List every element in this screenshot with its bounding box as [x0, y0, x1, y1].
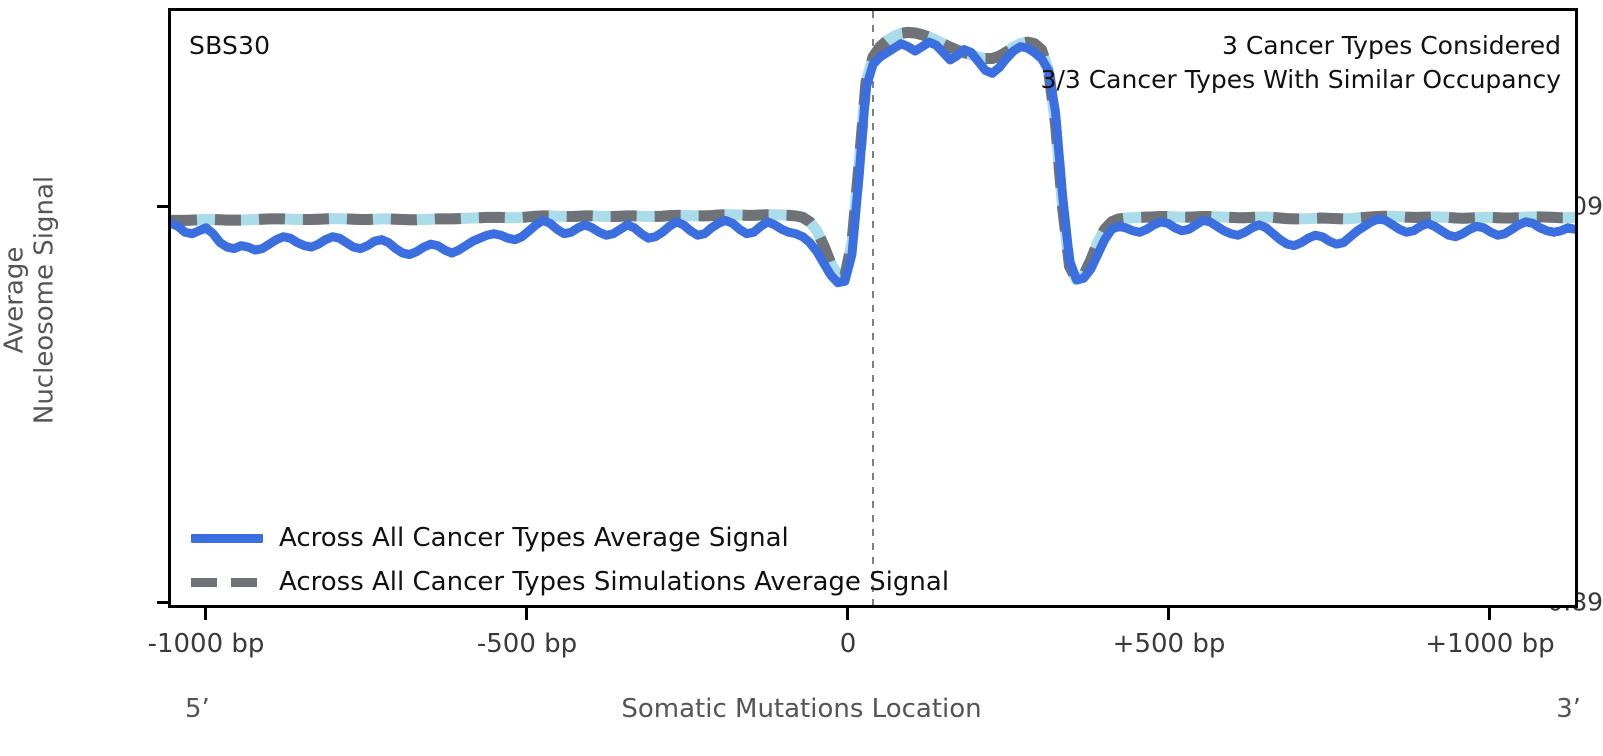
- legend-swatch-simulation: [191, 570, 263, 594]
- x-tick-label-zero: 0: [840, 629, 857, 659]
- x-tick-mark-minus1000: [204, 608, 207, 620]
- legend-item-simulation: Across All Cancer Types Simulations Aver…: [191, 560, 949, 604]
- y-axis-label-line1: Average: [0, 247, 29, 354]
- three-prime-label: 3’: [1556, 694, 1581, 724]
- x-tick-label-minus500: -500 bp: [477, 629, 577, 659]
- nucleosome-occupancy-figure: Average Nucleosome Signal 1.09 0.89 SBS3…: [0, 0, 1603, 756]
- x-tick-mark-plus1000: [1488, 608, 1491, 620]
- cancer-type-notes: 3 Cancer Types Considered 3/3 Cancer Typ…: [1041, 29, 1561, 96]
- y-tick-mark-upper: [157, 205, 168, 208]
- legend-label-simulation: Across All Cancer Types Simulations Aver…: [279, 569, 949, 595]
- x-tick-mark-minus500: [525, 608, 528, 620]
- signature-label: SBS30: [189, 31, 270, 60]
- y-axis-label: Average Nucleosome Signal: [0, 0, 60, 756]
- x-axis-label: Somatic Mutations Location: [0, 694, 1603, 724]
- legend-label-real: Across All Cancer Types Average Signal: [279, 525, 789, 551]
- legend-swatch-real: [191, 526, 263, 550]
- x-tick-mark-zero: [846, 608, 849, 620]
- legend: Across All Cancer Types Average Signal A…: [191, 516, 949, 604]
- note-types-considered: 3 Cancer Types Considered: [1041, 29, 1561, 63]
- y-tick-mark-lower: [157, 601, 168, 604]
- x-tick-label-plus1000: +1000 bp: [1425, 629, 1554, 659]
- plot-area: SBS30 3 Cancer Types Considered 3/3 Canc…: [168, 8, 1578, 608]
- x-tick-label-plus500: +500 bp: [1113, 629, 1226, 659]
- x-tick-mark-plus500: [1167, 608, 1170, 620]
- legend-item-real: Across All Cancer Types Average Signal: [191, 516, 949, 560]
- note-similar-occupancy: 3/3 Cancer Types With Similar Occupancy: [1041, 63, 1561, 97]
- y-axis-label-line2: Nucleosome Signal: [29, 176, 59, 424]
- x-tick-label-minus1000: -1000 bp: [148, 629, 265, 659]
